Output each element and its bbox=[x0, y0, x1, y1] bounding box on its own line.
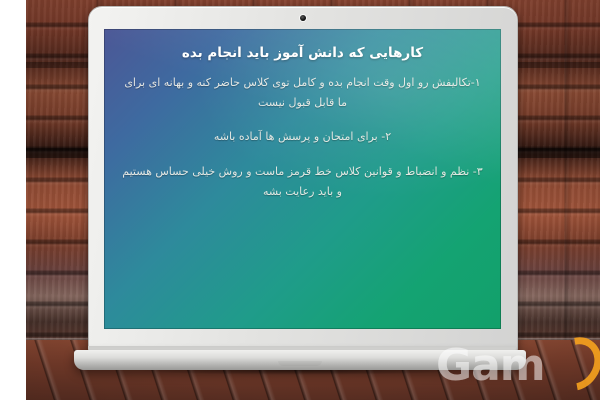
slide-bullet-list: ۱-تکالیفش رو اول وقت انجام بده و کامل تو… bbox=[118, 73, 487, 203]
laptop-screen: کارهایی که دانش آموز باید انجام بده ۱-تک… bbox=[104, 29, 501, 329]
base-notch bbox=[278, 361, 322, 366]
webcam-icon bbox=[300, 15, 306, 21]
laptop-device: کارهایی که دانش آموز باید انجام بده ۱-تک… bbox=[74, 6, 526, 386]
screenshot-stage: کارهایی که دانش آموز باید انجام بده ۱-تک… bbox=[0, 0, 600, 400]
presentation-slide: کارهایی که دانش آموز باید انجام بده ۱-تک… bbox=[104, 29, 501, 329]
lid-bottom-lip bbox=[104, 333, 501, 345]
slide-bullet-2: ۲- برای امتحان و پرسش ها آماده باشه bbox=[118, 127, 487, 147]
slide-bullet-3: ۳- نظم و انضباط و قوانین کلاس خط قرمز ما… bbox=[118, 162, 487, 203]
slide-title: کارهایی که دانش آموز باید انجام بده bbox=[118, 45, 487, 63]
laptop-base bbox=[74, 350, 526, 370]
slide-bullet-1: ۱-تکالیفش رو اول وقت انجام بده و کامل تو… bbox=[118, 73, 487, 114]
laptop-lid: کارهایی که دانش آموز باید انجام بده ۱-تک… bbox=[88, 6, 518, 352]
